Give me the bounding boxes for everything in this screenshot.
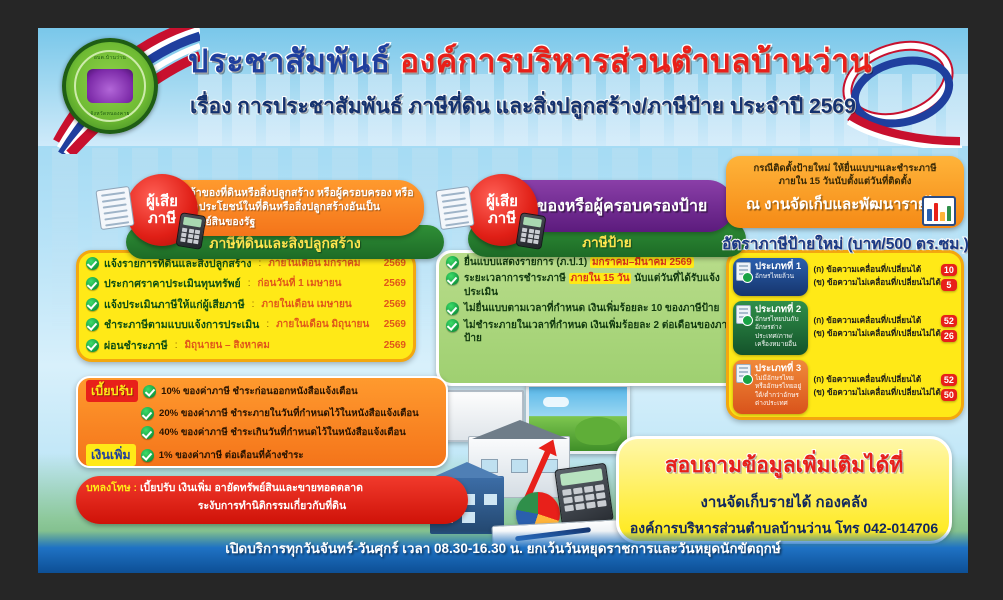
schedule-year: 2569 — [384, 299, 406, 310]
penalty-text: 1% ของค่าภาษี ต่อเดือนที่ค้างชำระ — [159, 448, 304, 463]
table-row: แจ้งประเมินภาษีให้แก่ผู้เสียภาษี : ภายใน… — [79, 294, 413, 315]
sign-type-1-items: (ก) ข้อความเคลื่อนที่/เปลี่ยนได้ (ข) ข้อ… — [808, 258, 941, 296]
contact-heading: สอบถามข้อมูลเพิ่มเติมได้ที่ — [619, 449, 949, 482]
footer-hours-text: เปิดบริการทุกวันจันทร์-วันศุกร์ เวลา 08.… — [38, 537, 968, 559]
schedule-label: ผ่อนชำระภาษี — [104, 337, 168, 354]
new-sign-installation-note: กรณีติดตั้งป้ายใหม่ ให้ยื่นแบบฯและชำระภา… — [726, 156, 964, 228]
sign-rule-text: ระยะเวลาการชำระภาษี ภายใน 15 วัน นับแต่ว… — [464, 272, 736, 299]
sign-tax-category-label: ภาษีป้าย — [582, 231, 631, 253]
rate-item-text: (ก) ข้อความเคลื่อนที่/เปลี่ยนได้ — [814, 264, 941, 277]
document-icon-land — [95, 186, 134, 230]
rate-item-text: (ก) ข้อความเคลื่อนที่/เปลี่ยนได้ — [814, 315, 941, 328]
rate-item-text: (ข) ข้อความไม่เคลื่อนที่/เปลี่ยนไม่ได้ — [814, 387, 941, 400]
sign-rule-text: ไม่ชำระภายในเวลาที่กำหนด เงินเพิ่มร้อยละ… — [464, 319, 736, 346]
sign-type-3-items: (ก) ข้อความเคลื่อนที่/เปลี่ยนได้ (ข) ข้อ… — [808, 360, 941, 414]
rate-item-text: (ข) ข้อความไม่เคลื่อนที่/เปลี่ยนไม่ได้ — [814, 328, 941, 341]
schedule-value: ภายในเดือน มิถุนายน — [276, 317, 369, 332]
emblem-bottom-text: จังหวัดหนองคาย — [66, 110, 154, 118]
rate-value: 52 — [941, 315, 957, 327]
land-badge-line1: ผู้เสีย — [146, 193, 178, 210]
table-row: ผ่อนชำระภาษี : มิถุนายน – สิงหาคม 2569 — [79, 335, 413, 356]
sign-type-3-rates: 52 50 — [941, 360, 957, 414]
page-subtitle: เรื่อง การประชาสัมพันธ์ ภาษีที่ดิน และสิ… — [190, 90, 910, 123]
schedule-separator: : — [266, 319, 269, 330]
sign-type-title: ประเภทที่ 3 — [755, 364, 804, 375]
list-item: 40% ของค่าภาษี ชำระเกินวันที่กำหนดไว้ในห… — [78, 423, 446, 442]
emblem-top-text: อบต.บ้านว่าน — [66, 54, 154, 62]
penalty-panel: เบี้ยปรับ 10% ของค่าภาษี ชำระก่อนออกหนัง… — [76, 376, 448, 468]
sign-type-subtitle: ไม่มีอักษรไทย หรืออักษรไทยอยู่ใต้/ต่ำกว่… — [755, 375, 804, 409]
legal-line-2: ระงับการทำนิติกรรมเกี่ยวกับที่ดิน — [86, 497, 458, 514]
sign-type-title: ประเภทที่ 2 — [755, 305, 804, 316]
bar-chart-monitor-icon — [922, 196, 956, 226]
list-item: ไม่ยื่นแบบตามเวลาที่กำหนด เงินเพิ่มร้อยล… — [439, 299, 743, 315]
sign-type-3-tag: ประเภทที่ 3 ไม่มีอักษรไทย หรืออักษรไทยอย… — [733, 360, 808, 414]
rate-item-text: (ข) ข้อความไม่เคลื่อนที่/เปลี่ยนไม่ได้ — [814, 277, 941, 290]
schedule-label: ชำระภาษีตามแบบแจ้งการประเมิน — [104, 316, 259, 333]
check-icon — [86, 277, 99, 290]
table-row: ชำระภาษีตามแบบแจ้งการประเมิน : ภายในเดือ… — [79, 315, 413, 336]
schedule-label: ประกาศราคาประเมินทุนทรัพย์ — [104, 275, 241, 292]
list-item: ไม่ชำระภายในเวลาที่กำหนด เงินเพิ่มร้อยละ… — [439, 316, 743, 346]
table-row: ประเภทที่ 3 ไม่มีอักษรไทย หรืออักษรไทยอย… — [733, 360, 957, 414]
check-icon — [86, 298, 99, 311]
fine-tag: เบี้ยปรับ — [86, 380, 138, 402]
schedule-separator: : — [248, 278, 251, 289]
land-badge-line2: ภาษี — [148, 210, 176, 227]
rate-value: 5 — [941, 279, 957, 291]
calculator-icon-land — [176, 212, 207, 250]
check-icon — [446, 319, 459, 332]
check-icon — [141, 426, 154, 439]
legal-tag: บทลงโทษ : — [86, 482, 137, 494]
hill-shape — [575, 417, 621, 445]
cloud-shape — [543, 397, 569, 407]
schedule-label: แจ้งประเมินภาษีให้แก่ผู้เสียภาษี — [104, 296, 245, 313]
sign-badge-line2: ภาษี — [488, 210, 516, 227]
rate-value: 50 — [941, 389, 957, 401]
legal-penalty-bar: บทลงโทษ : เบี้ยปรับ เงินเพิ่ม อายัดทรัพย… — [76, 476, 468, 524]
table-row: ประเภทที่ 2 อักษรไทยปนกับอักษรต่างประเทศ… — [733, 301, 957, 355]
document-icon-sign — [435, 186, 474, 230]
sign-type-subtitle: อักษรไทยปนกับอักษรต่างประเทศ/ภาพ/เครื่อง… — [755, 316, 804, 350]
poster-root: อบต.บ้านว่าน จังหวัดหนองคาย ประชาสัมพันธ… — [38, 28, 968, 573]
note-line-1: กรณีติดตั้งป้ายใหม่ ให้ยื่นแบบฯและชำระภา… — [726, 163, 964, 176]
sign-type-subtitle: อักษรไทยล้วน — [755, 273, 804, 281]
sign-type-2-items: (ก) ข้อความเคลื่อนที่/เปลี่ยนได้ (ข) ข้อ… — [808, 301, 941, 355]
page-title: ประชาสัมพันธ์ องค์การบริหารส่วนตำบลบ้านว… — [188, 44, 888, 79]
calculator-icon-sign — [516, 212, 547, 250]
penalty-text: 40% ของค่าภาษี ชำระเกินวันที่กำหนดไว้ในห… — [159, 425, 406, 440]
table-row: ประกาศราคาประเมินทุนทรัพย์ : ก่อนวันที่ … — [79, 274, 413, 295]
rate-value: 26 — [941, 330, 957, 342]
emblem-glyph — [87, 69, 133, 103]
clipboard-check-icon — [736, 305, 751, 324]
list-item: ระยะเวลาการชำระภาษี ภายใน 15 วัน นับแต่ว… — [439, 269, 743, 299]
schedule-value: มิถุนายน – สิงหาคม — [184, 338, 269, 353]
check-icon — [141, 407, 154, 420]
title-part-announcement: ประชาสัมพันธ์ — [188, 43, 400, 79]
schedule-value: ภายในเดือน เมษายน — [261, 297, 351, 312]
sign-type-1-rates: 10 5 — [941, 258, 957, 296]
sign-type-2-tag: ประเภทที่ 2 อักษรไทยปนกับอักษรต่างประเทศ… — [733, 301, 808, 355]
check-icon — [446, 302, 459, 315]
check-icon — [141, 449, 154, 462]
schedule-year: 2569 — [384, 319, 406, 330]
check-icon — [143, 385, 156, 398]
check-icon — [86, 318, 99, 331]
schedule-separator: : — [252, 299, 255, 310]
sign-type-1-tag: ประเภทที่ 1 อักษรไทยล้วน — [733, 258, 808, 296]
rate-item-text: (ก) ข้อความเคลื่อนที่/เปลี่ยนได้ — [814, 374, 941, 387]
list-item: เบี้ยปรับ 10% ของค่าภาษี ชำระก่อนออกหนัง… — [78, 378, 446, 404]
clipboard-check-icon — [736, 364, 751, 383]
schedule-separator: : — [258, 258, 261, 269]
sign-rule-text: ยื่นแบบแสดงรายการ (ภ.ป.1) มกราคม–มีนาคม … — [464, 256, 694, 269]
penalty-text: 10% ของค่าภาษี ชำระก่อนออกหนังสือแจ้งเตื… — [161, 384, 358, 399]
title-part-organization: องค์การบริหารส่วนตำบลบ้านว่าน — [400, 43, 872, 79]
sign-type-title: ประเภทที่ 1 — [755, 262, 804, 273]
calculator-illustration — [554, 463, 614, 528]
schedule-value: ก่อนวันที่ 1 เมษายน — [257, 276, 341, 291]
check-icon — [86, 339, 99, 352]
sign-rule-text: ไม่ยื่นแบบตามเวลาที่กำหนด เงินเพิ่มร้อยล… — [464, 302, 719, 315]
list-item: 20% ของค่าภาษี ชำระภายในวันที่กำหนดไว้ใน… — [78, 404, 446, 423]
sign-type-2-rates: 52 26 — [941, 301, 957, 355]
organization-emblem: อบต.บ้านว่าน จังหวัดหนองคาย — [62, 38, 158, 134]
check-icon — [446, 256, 459, 269]
sign-rate-title: อัตราภาษีป้ายใหม่ (บาท/500 ตร.ซม.) — [722, 231, 968, 256]
schedule-year: 2569 — [384, 340, 406, 351]
land-taxpayer-description: เจ้าของที่ดินหรือสิ่งปลูกสร้าง หรือผู้คร… — [186, 186, 416, 229]
penalty-text: 20% ของค่าภาษี ชำระภายในวันที่กำหนดไว้ใน… — [159, 406, 419, 421]
sign-rate-table: ประเภทที่ 1 อักษรไทยล้วน (ก) ข้อความเคลื… — [726, 250, 964, 420]
surcharge-tag: เงินเพิ่ม — [86, 444, 136, 466]
poster-header: อบต.บ้านว่าน จังหวัดหนองคาย ประชาสัมพันธ… — [38, 28, 968, 146]
schedule-separator: : — [175, 340, 178, 351]
clipboard-check-icon — [736, 262, 751, 281]
note-line-2: ภายใน 15 วันนับตั้งแต่วันที่ติดตั้ง — [726, 176, 964, 189]
check-icon — [446, 272, 459, 285]
table-row: ประเภทที่ 1 อักษรไทยล้วน (ก) ข้อความเคลื… — [733, 258, 957, 296]
sign-tax-rules-panel: ยื่นแบบแสดงรายการ (ภ.ป.1) มกราคม–มีนาคม … — [436, 250, 746, 386]
rate-value: 10 — [941, 264, 957, 276]
land-tax-category-label: ภาษีที่ดินและสิ่งปลูกสร้าง — [209, 233, 360, 255]
contact-office: งานจัดเก็บรายได้ กองคลัง — [619, 490, 949, 514]
legal-line-1: บทลงโทษ : เบี้ยปรับ เงินเพิ่ม อายัดทรัพย… — [86, 481, 458, 497]
check-icon — [86, 257, 99, 270]
schedule-year: 2569 — [384, 278, 406, 289]
land-tax-schedule-panel: แจ้งรายการที่ดินและสิ่งปลูกสร้าง : ภายใน… — [76, 250, 416, 362]
contact-box: สอบถามข้อมูลเพิ่มเติมได้ที่ งานจัดเก็บรา… — [616, 436, 952, 544]
sign-badge-line1: ผู้เสีย — [486, 193, 518, 210]
list-item: เงินเพิ่ม 1% ของค่าภาษี ต่อเดือนที่ค้างช… — [78, 442, 446, 468]
rate-value: 52 — [941, 374, 957, 386]
schedule-year: 2569 — [384, 258, 406, 269]
